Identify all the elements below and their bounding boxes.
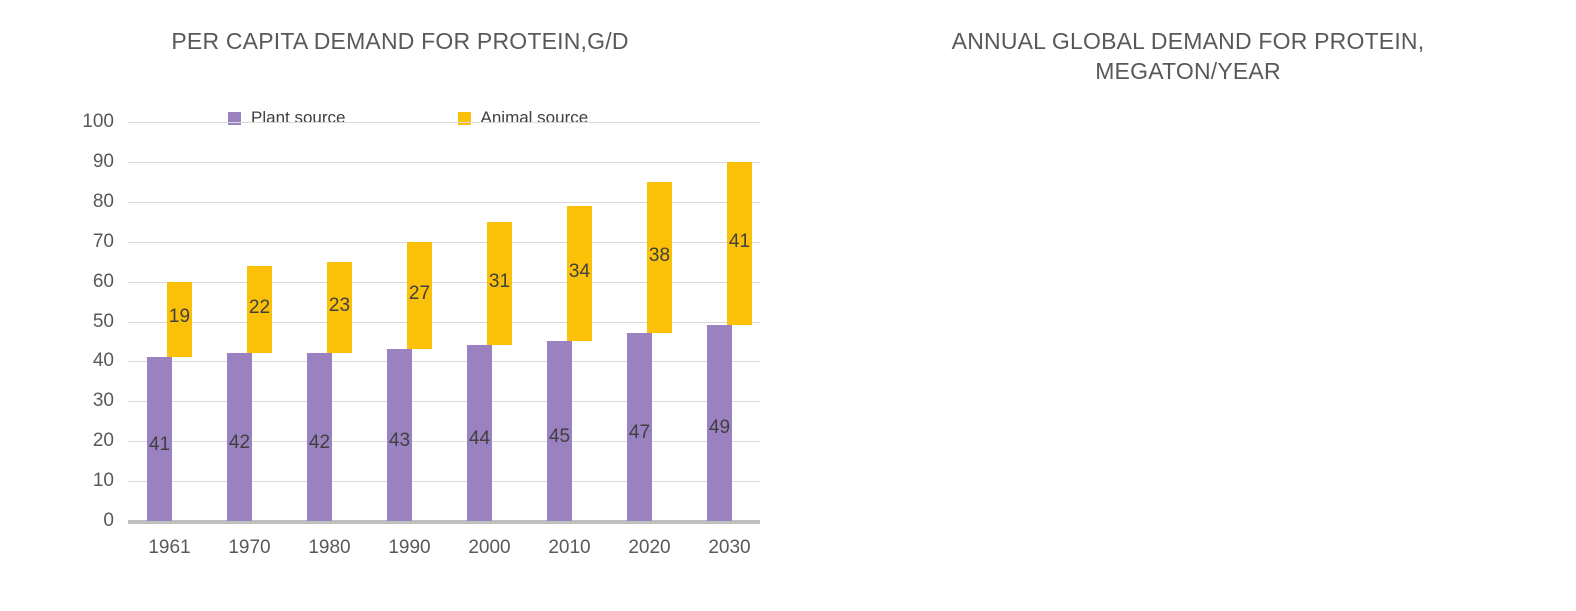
y-axis-tick-label: 100 bbox=[82, 111, 114, 133]
bar-plant-source[interactable]: 47 bbox=[627, 333, 652, 521]
x-axis-tick-label: 1970 bbox=[228, 537, 270, 559]
bar-label-animal-source: 19 bbox=[169, 306, 190, 328]
bar-label-plant-source: 42 bbox=[309, 432, 330, 454]
bar-label-animal-source: 27 bbox=[409, 283, 430, 305]
gridline bbox=[128, 361, 760, 362]
y-axis-tick-label: 50 bbox=[93, 311, 114, 333]
y-axis-tick-label: 10 bbox=[93, 470, 114, 492]
x-axis-tick-label: 1990 bbox=[388, 537, 430, 559]
y-axis-tick-label: 80 bbox=[93, 191, 114, 213]
bar-label-plant-source: 42 bbox=[229, 432, 250, 454]
bar-label-animal-source: 23 bbox=[329, 295, 350, 317]
x-axis-tick-label: 2030 bbox=[708, 537, 750, 559]
bar-animal-source[interactable]: 31 bbox=[487, 222, 512, 346]
x-axis-line bbox=[128, 520, 760, 524]
chart-panel-per-capita: PER CAPITA DEMAND FOR PROTEIN,G/D Plant … bbox=[0, 0, 800, 611]
bar-plant-source[interactable]: 44 bbox=[467, 345, 492, 521]
bar-animal-source[interactable]: 23 bbox=[327, 262, 352, 354]
chart-title-line: PER CAPITA DEMAND FOR PROTEIN,G/D bbox=[0, 26, 800, 56]
bar-plant-source[interactable]: 49 bbox=[707, 325, 732, 521]
x-axis-tick-label: 1961 bbox=[148, 537, 190, 559]
bar-label-animal-source: 22 bbox=[249, 297, 270, 319]
y-axis-tick-label: 40 bbox=[93, 350, 114, 372]
chart-title-line: MEGATON/YEAR bbox=[800, 56, 1576, 86]
bar-plant-source[interactable]: 43 bbox=[387, 349, 412, 521]
bar-label-animal-source: 38 bbox=[649, 245, 670, 267]
gridline bbox=[128, 162, 760, 163]
x-axis-tick-label: 1980 bbox=[308, 537, 350, 559]
y-axis-tick-label: 60 bbox=[93, 271, 114, 293]
bar-label-plant-source: 43 bbox=[389, 430, 410, 452]
x-axis-tick-label: 2010 bbox=[548, 537, 590, 559]
x-axis-tick-label: 2000 bbox=[468, 537, 510, 559]
bar-label-plant-source: 44 bbox=[469, 428, 490, 450]
bar-animal-source[interactable]: 27 bbox=[407, 242, 432, 350]
x-axis-tick-label: 2020 bbox=[628, 537, 670, 559]
bar-animal-source[interactable]: 19 bbox=[167, 282, 192, 358]
bar-label-plant-source: 47 bbox=[629, 422, 650, 444]
chart-title-annual-global: ANNUAL GLOBAL DEMAND FOR PROTEIN, MEGATO… bbox=[800, 26, 1576, 86]
bar-label-plant-source: 45 bbox=[549, 426, 570, 448]
bar-label-animal-source: 41 bbox=[729, 231, 750, 253]
bar-plant-source[interactable]: 45 bbox=[547, 341, 572, 521]
y-axis-tick-label: 70 bbox=[93, 231, 114, 253]
bar-label-animal-source: 34 bbox=[569, 261, 590, 283]
chart-title-line: ANNUAL GLOBAL DEMAND FOR PROTEIN, bbox=[800, 26, 1576, 56]
chart-title-per-capita: PER CAPITA DEMAND FOR PROTEIN,G/D bbox=[0, 26, 800, 56]
y-axis-tick-label: 30 bbox=[93, 390, 114, 412]
bar-label-plant-source: 49 bbox=[709, 417, 730, 439]
chart-canvas: PER CAPITA DEMAND FOR PROTEIN,G/D Plant … bbox=[0, 0, 1576, 611]
bar-plant-source[interactable]: 42 bbox=[307, 353, 332, 521]
bar-animal-source[interactable]: 34 bbox=[567, 206, 592, 342]
gridline bbox=[128, 401, 760, 402]
gridline bbox=[128, 441, 760, 442]
bar-plant-source[interactable]: 42 bbox=[227, 353, 252, 521]
bar-plant-source[interactable]: 41 bbox=[147, 357, 172, 521]
plot-area-per-capita: 0102030405060708090100411919614222197042… bbox=[128, 122, 760, 521]
bar-label-animal-source: 31 bbox=[489, 271, 510, 293]
bar-animal-source[interactable]: 22 bbox=[247, 266, 272, 354]
y-axis-tick-label: 0 bbox=[103, 510, 114, 532]
y-axis-tick-label: 90 bbox=[93, 151, 114, 173]
bar-animal-source[interactable]: 41 bbox=[727, 162, 752, 326]
bar-label-plant-source: 41 bbox=[149, 434, 170, 456]
chart-panel-annual-global: ANNUAL GLOBAL DEMAND FOR PROTEIN, MEGATO… bbox=[800, 0, 1576, 611]
gridline bbox=[128, 122, 760, 123]
gridline bbox=[128, 481, 760, 482]
bar-animal-source[interactable]: 38 bbox=[647, 182, 672, 334]
y-axis-tick-label: 20 bbox=[93, 430, 114, 452]
